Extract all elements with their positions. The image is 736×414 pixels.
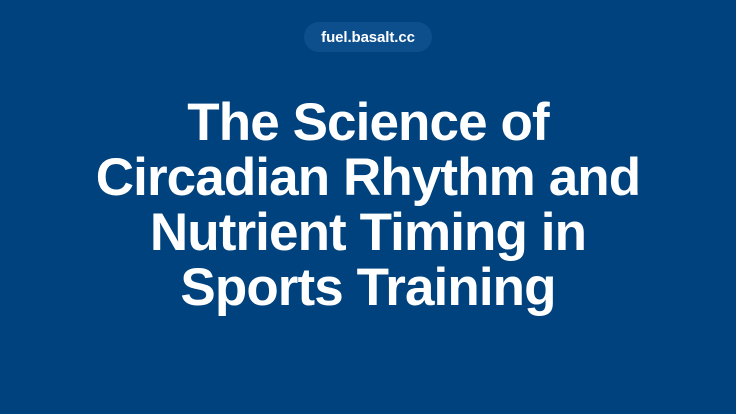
title-line-2: Circadian Rhythm and (96, 150, 640, 205)
title-line-4: Sports Training (96, 260, 640, 315)
site-domain-badge[interactable]: fuel.basalt.cc (304, 22, 432, 52)
title-slide: fuel.basalt.cc The Science of Circadian … (0, 0, 736, 414)
page-title: The Science of Circadian Rhythm and Nutr… (96, 95, 640, 315)
title-block: The Science of Circadian Rhythm and Nutr… (48, 95, 688, 315)
badge-row: fuel.basalt.cc (0, 22, 736, 52)
title-line-1: The Science of (96, 95, 640, 150)
title-line-3: Nutrient Timing in (96, 205, 640, 260)
